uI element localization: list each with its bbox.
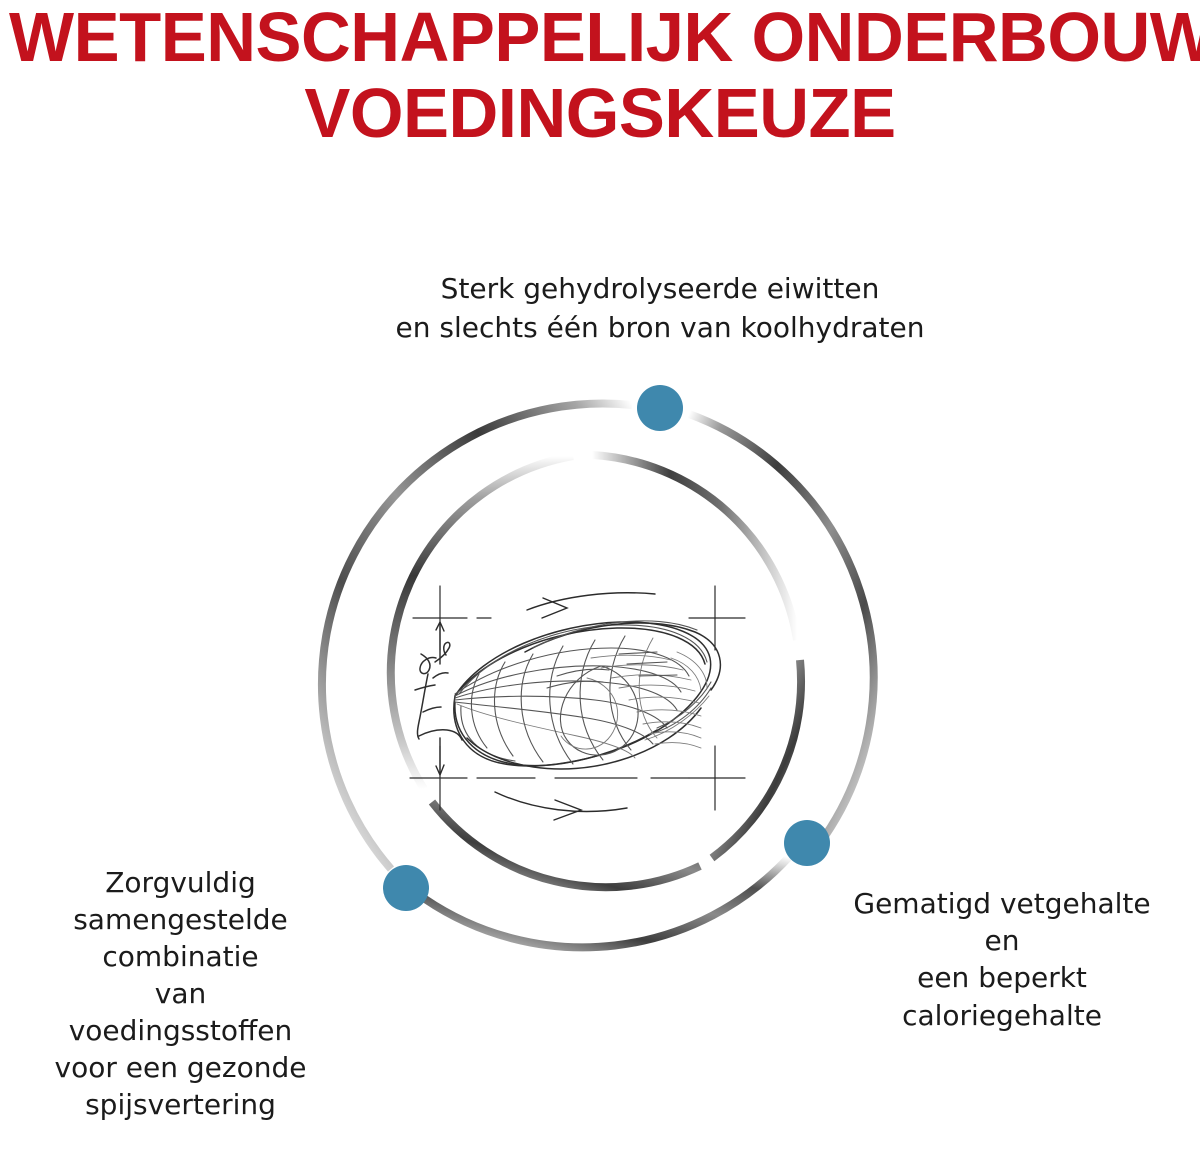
handwritten-note (415, 642, 462, 740)
kibble-wireframe-transverse (471, 636, 657, 764)
page-title-line-1: WETENSCHAPPELIJK ONDERBOUWDE (9, 0, 1191, 72)
inner-arc-segment-right (712, 660, 801, 858)
page-title: WETENSCHAPPELIJK ONDERBOUWDE VOEDINGSKEU… (0, 0, 1200, 148)
caption-fat-calories: Gematigd vetgehalte en een beperkt calor… (812, 885, 1192, 1034)
kibble-sketch (410, 586, 745, 820)
node-dot-bottom-left[interactable] (383, 865, 429, 911)
dimension-frame (410, 586, 745, 810)
kibble-shading (547, 652, 707, 748)
node-dot-top[interactable] (637, 385, 683, 431)
page-title-line-2: VOEDINGSKEUZE (9, 72, 1191, 148)
inner-arc-segment-left (391, 456, 573, 789)
outer-arc-segment-right (689, 414, 874, 836)
node-dots (383, 385, 830, 911)
caption-protein-carb: Sterk gehydrolyseerde eiwitten en slecht… (275, 270, 1045, 347)
kibble-body (454, 621, 720, 769)
inner-ring (391, 455, 801, 887)
outer-arc-segment-left (322, 403, 632, 869)
rotation-arrows (495, 593, 655, 820)
inner-arc-segment-top-right (592, 455, 797, 640)
outer-arc-segment-bottom (425, 857, 789, 947)
inner-arc-segment-bottom (432, 802, 700, 887)
node-dot-bottom-right[interactable] (784, 820, 830, 866)
kibble-wireframe-longitudinal (455, 648, 689, 758)
caption-nutrient-combination: Zorgvuldig samengestelde combinatie van … (8, 865, 353, 1124)
outer-ring (322, 403, 874, 947)
